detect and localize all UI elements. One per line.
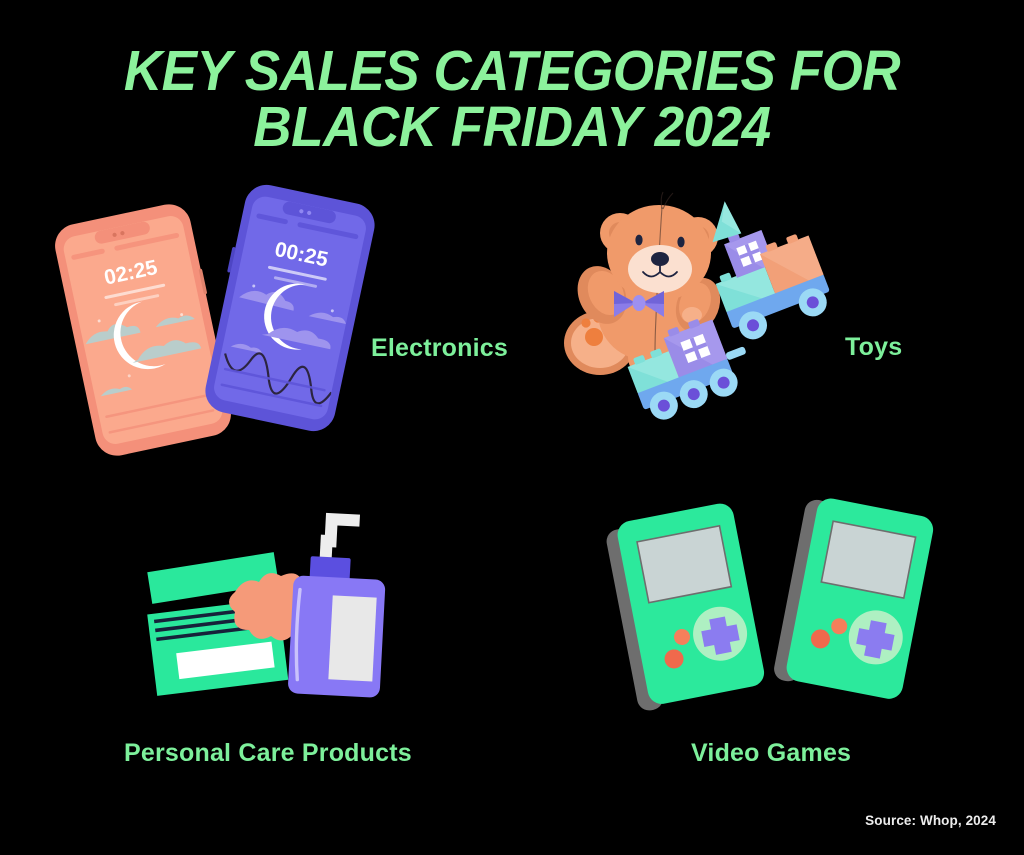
coral-smartphone: 02:25 [51, 200, 236, 460]
pump-bottle [288, 511, 389, 698]
category-label-personal-care: Personal Care Products [124, 739, 412, 768]
title-line-1: KEY SALES CATEGORIES FOR [36, 44, 988, 100]
soap-box-and-pump-bottle-icon [135, 500, 435, 710]
two-smartphones-icon: 02:25 [60, 190, 380, 490]
two-handheld-consoles-icon [605, 495, 935, 725]
title-line-2: BLACK FRIDAY 2024 [36, 100, 988, 156]
teddy-bear-and-toy-train-icon [550, 185, 850, 455]
page-title: KEY SALES CATEGORIES FOR BLACK FRIDAY 20… [0, 44, 1024, 156]
category-label-toys: Toys [845, 333, 902, 362]
category-label-video-games: Video Games [691, 739, 851, 768]
handheld-console-right [772, 494, 935, 703]
category-label-electronics: Electronics [371, 334, 508, 363]
infographic-canvas: KEY SALES CATEGORIES FOR BLACK FRIDAY 20… [0, 0, 1024, 855]
handheld-console-left [603, 501, 767, 712]
source-note: Source: Whop, 2024 [865, 813, 996, 828]
purple-smartphone: 00:25 [198, 180, 378, 435]
